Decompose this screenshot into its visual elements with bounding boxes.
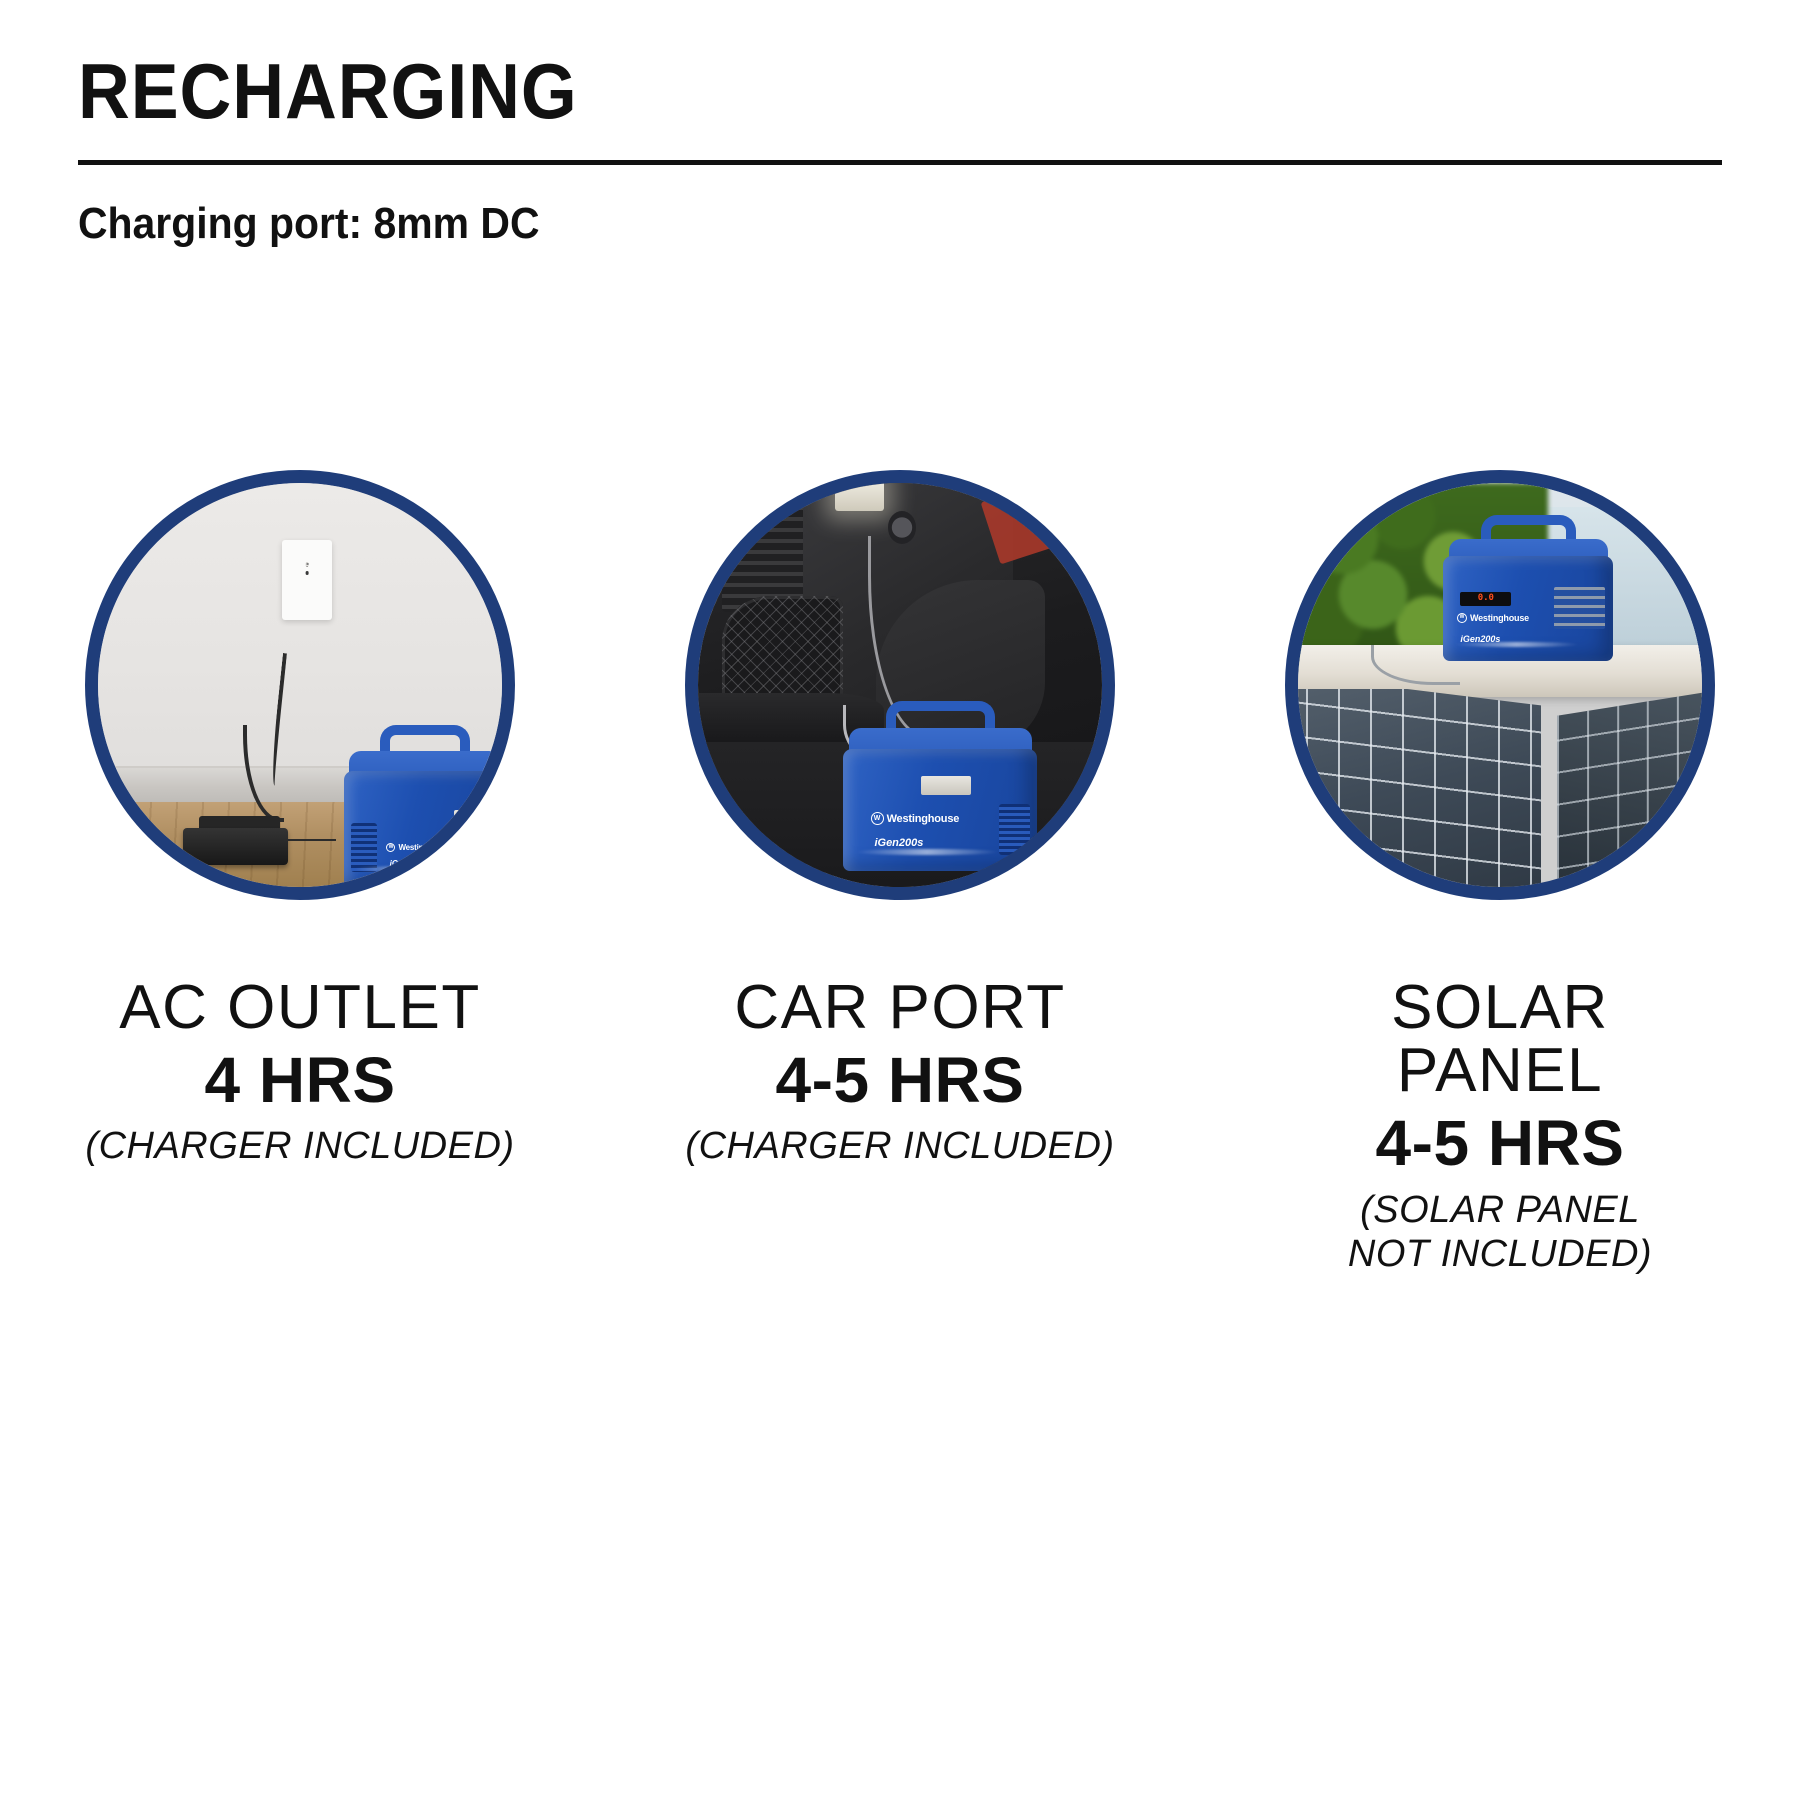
- photo-solar-panel: 0.0 W Westinghouse iGen200s: [1285, 470, 1715, 900]
- option-solar-panel: 0.0 W Westinghouse iGen200s: [1200, 470, 1800, 1277]
- outlet-ground-icon: [307, 566, 308, 567]
- unit-body: W Westinghouse iGen200s: [344, 771, 502, 887]
- option-note: (CHARGER INCLUDED): [620, 1124, 1180, 1169]
- brand-name: Westinghouse: [887, 813, 960, 825]
- display-value: 0.0: [1478, 594, 1494, 603]
- scene-solar-panel: 0.0 W Westinghouse iGen200s: [1298, 483, 1702, 887]
- brand-logo: W Westinghouse: [1457, 613, 1529, 623]
- caption-ac-outlet: AC OUTLET 4 HRS (CHARGER INCLUDED): [20, 976, 580, 1169]
- option-hours: 4-5 HRS: [1220, 1110, 1780, 1177]
- dome-light-icon: [835, 483, 883, 511]
- infographic-page: RECHARGING Charging port: 8mm DC: [0, 0, 1800, 1800]
- outlet-socket-icon: [306, 562, 309, 567]
- unit-body: 0.0 W Westinghouse iGen200s: [1443, 556, 1613, 661]
- power-station-icon: W Westinghouse iGen200s: [344, 725, 502, 887]
- page-title: RECHARGING: [78, 52, 1590, 130]
- scene-car-port: W Westinghouse iGen200s: [698, 483, 1102, 887]
- westinghouse-w-icon: W: [871, 812, 884, 825]
- plug-icon: [305, 571, 308, 575]
- photo-car-port: W Westinghouse iGen200s: [685, 470, 1115, 900]
- charging-port-subtitle: Charging port: 8mm DC: [78, 199, 1607, 249]
- option-hours: 4-5 HRS: [620, 1047, 1180, 1114]
- solar-panel-left-wing: [1298, 689, 1540, 887]
- output-ports-icon: [1554, 587, 1605, 629]
- body-highlight: [855, 849, 998, 855]
- photo-ac-outlet: W Westinghouse iGen200s: [85, 470, 515, 900]
- brand-name: Westinghouse: [1470, 613, 1529, 623]
- brand-logo: W Westinghouse: [871, 812, 960, 825]
- model-name: iGen200s: [874, 837, 923, 849]
- scene-ac-outlet: W Westinghouse iGen200s: [98, 483, 502, 887]
- option-name: AC OUTLET: [20, 976, 580, 1039]
- vent-grille-icon: [999, 804, 1030, 855]
- solar-panel-icon: [1298, 689, 1702, 887]
- charger-wire: [284, 839, 337, 841]
- option-note: (SOLAR PANEL NOT INCLUDED): [1220, 1188, 1780, 1278]
- westinghouse-w-icon: W: [386, 843, 395, 852]
- brand-name: Westinghouse: [398, 843, 450, 852]
- header-divider: [78, 160, 1722, 165]
- option-hours: 4 HRS: [20, 1047, 580, 1114]
- solar-panel-right-wing: [1557, 689, 1702, 887]
- option-car-port: W Westinghouse iGen200s CAR PORT 4-5 HRS…: [600, 470, 1200, 1277]
- unit-body: W Westinghouse iGen200s: [843, 749, 1037, 871]
- westinghouse-w-icon: W: [1457, 613, 1467, 623]
- lcd-display: 0.0: [1460, 592, 1511, 607]
- body-highlight: [1454, 642, 1580, 647]
- control-panel: [921, 776, 971, 796]
- caption-solar-panel: SOLAR PANEL 4-5 HRS (SOLAR PANEL NOT INC…: [1220, 976, 1780, 1277]
- header: RECHARGING Charging port: 8mm DC: [78, 52, 1722, 249]
- body-highlight: [354, 866, 474, 872]
- power-station-icon: W Westinghouse iGen200s: [843, 701, 1037, 871]
- charger-brick-icon: [183, 828, 288, 864]
- outlet-plate-icon: [282, 540, 333, 621]
- brand-logo: W Westinghouse: [386, 843, 450, 852]
- option-note: (CHARGER INCLUDED): [20, 1124, 580, 1169]
- vent-grille-icon: [351, 823, 377, 872]
- option-name: CAR PORT: [620, 976, 1180, 1039]
- recharging-options: W Westinghouse iGen200s AC OUTLET 4 HRS …: [0, 470, 1800, 1277]
- option-name: SOLAR PANEL: [1220, 976, 1780, 1102]
- option-ac-outlet: W Westinghouse iGen200s AC OUTLET 4 HRS …: [0, 470, 600, 1277]
- power-station-icon: 0.0 W Westinghouse iGen200s: [1443, 515, 1613, 660]
- control-panel: [454, 810, 496, 829]
- caption-car-port: CAR PORT 4-5 HRS (CHARGER INCLUDED): [620, 976, 1180, 1169]
